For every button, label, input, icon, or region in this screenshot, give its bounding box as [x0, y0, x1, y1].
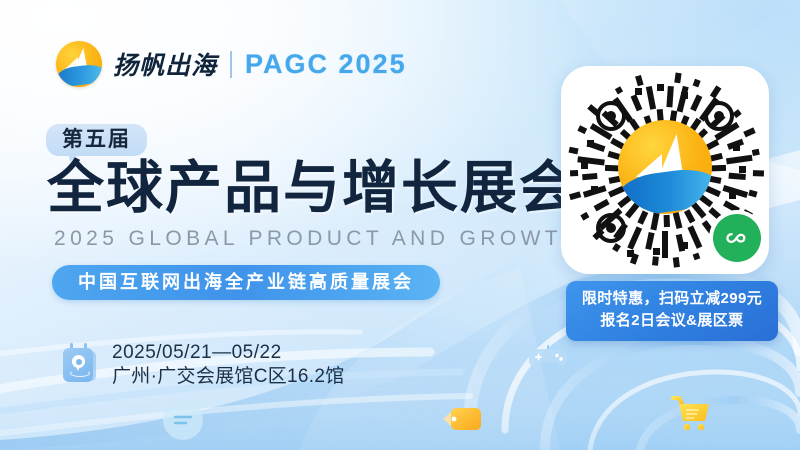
sailboat-sun-logo-icon [56, 41, 102, 87]
gamepad-icon [527, 341, 569, 371]
event-venue: 广州·广交会展馆C区16.2馆 [112, 365, 345, 389]
wechat-miniprogram-icon [713, 214, 761, 262]
brand-name-en: PAGC 2025 [245, 49, 407, 80]
brand-divider [230, 51, 232, 78]
qr-center-sailboat-sun-logo-icon [618, 120, 712, 214]
subtitle-pill: 中国互联网出海全产业链高质量展会 [52, 265, 440, 300]
page-title-cn: 全球产品与增长展会 [47, 160, 578, 217]
edition-badge: 第五届 [46, 124, 147, 156]
brand-header: 扬帆出海 PAGC 2025 [56, 38, 407, 90]
location-pin-bag-icon [58, 342, 104, 388]
promo-line-1: 限时特惠，扫码立减299元 [572, 288, 772, 310]
qr-code-card[interactable] [561, 66, 769, 274]
event-meta: 2025/05/21—05/22 广州·广交会展馆C区16.2馆 [58, 341, 345, 390]
promo-line-2: 报名2日会议&展区票 [572, 310, 772, 332]
price-tag-icon [441, 403, 485, 435]
brand-name-cn: 扬帆出海 [113, 46, 217, 82]
promo-box[interactable]: 限时特惠，扫码立减299元 报名2日会议&展区票 [566, 281, 778, 341]
event-banner: 扬帆出海 PAGC 2025 第五届 全球产品与增长展会 2025 GLOBAL… [0, 0, 800, 450]
event-date: 2025/05/21—05/22 [112, 341, 345, 365]
chat-bubble-icon [161, 398, 205, 442]
edition-badge-label: 第五届 [46, 124, 147, 156]
shopping-cart-icon [667, 392, 715, 436]
